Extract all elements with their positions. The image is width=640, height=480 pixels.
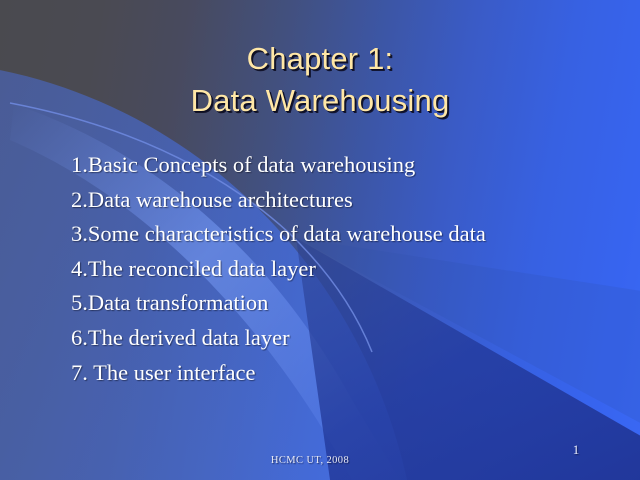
title-line-2: Data Warehousing	[0, 80, 640, 122]
slide-title: Chapter 1: Data Warehousing	[0, 38, 640, 122]
agenda-list: 1.Basic Concepts of data warehousing 2.D…	[71, 148, 611, 390]
slide-page-number: 1	[556, 442, 596, 458]
list-item: 1.Basic Concepts of data warehousing	[71, 148, 611, 183]
list-item: 3.Some characteristics of data warehouse…	[71, 217, 611, 252]
list-item: 6.The derived data layer	[71, 321, 611, 356]
slide-canvas: Chapter 1: Data Warehousing 1.Basic Conc…	[0, 0, 640, 480]
list-item: 4.The reconciled data layer	[71, 252, 611, 287]
title-line-1: Chapter 1:	[0, 38, 640, 80]
list-item: 5.Data transformation	[71, 286, 611, 321]
list-item: 7. The user interface	[71, 356, 611, 391]
slide-footer: HCMC UT, 2008	[180, 455, 440, 466]
list-item: 2.Data warehouse architectures	[71, 183, 611, 218]
